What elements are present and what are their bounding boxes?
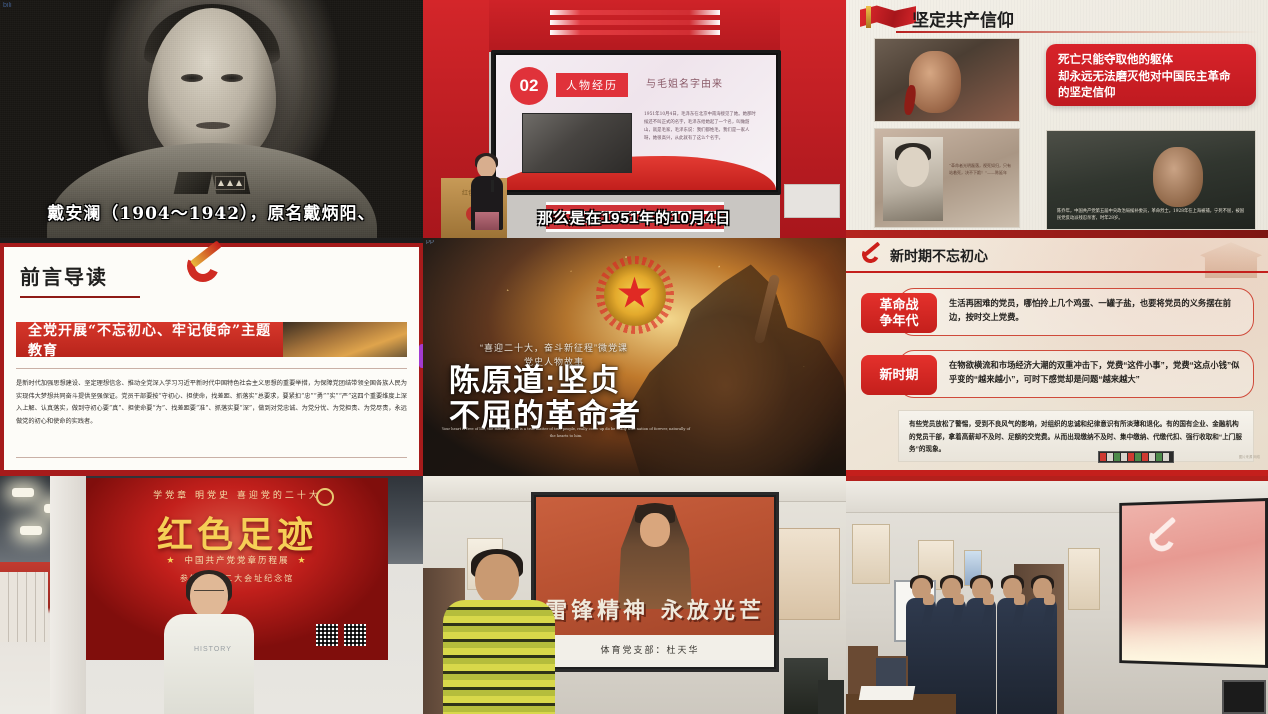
qr-codes — [316, 624, 366, 646]
banner-ribbon-text: 中国共产党党章历程展 — [184, 554, 289, 566]
panel-oath[interactable] — [846, 476, 1268, 714]
watermark: PP — [426, 240, 434, 246]
hero-title: 陈原道:坚贞 不屈的革命者 — [449, 364, 689, 433]
hero-english-subtext: Your heart is free of life, the mind of … — [441, 426, 691, 440]
organization-seal-icon — [316, 488, 334, 506]
screen-glow — [1122, 617, 1265, 665]
header-rule — [896, 31, 1260, 33]
star-icon: ★ — [298, 555, 308, 566]
panel-hero[interactable]: “喜迎二十大，奋斗新征程”微党课 党史人物故事 陈原道:坚贞 不屈的革命者 Yo… — [423, 238, 846, 476]
row-text: 在物欲横流和市场经济大潮的双重冲击下，党费“这件小事”，党费“这点小钱”似乎变的… — [949, 358, 1243, 386]
watermark: bili — [3, 2, 12, 9]
photo-face — [909, 51, 961, 113]
photo-wounded-man — [874, 38, 1020, 122]
hero-kicker-line1: “喜迎二十大，奋斗新征程”微党课 — [439, 342, 669, 356]
photo-portrait-inset — [883, 137, 943, 221]
row-text: 生活再困难的党员，哪怕拎上几个鸡蛋、一罐子盐，也要将党员的义务摆在前边，按时交上… — [949, 296, 1243, 324]
video-caption: 戴安澜（1904～1942），原名戴炳阳、 — [0, 199, 423, 224]
divider-bottom — [16, 457, 407, 458]
presenter-head — [477, 156, 496, 178]
panel-lecture-hall[interactable]: 02 人物经历 与毛姐名字由来 1951年10月4日，毛泽东在北京中南海接见了她… — [423, 0, 846, 238]
projection-screen: 雷锋精神 永放光芒 体育党支部：杜天华 — [531, 492, 779, 672]
monitor — [1222, 680, 1266, 714]
party-emblem-icon — [179, 246, 235, 288]
screen-slide: 02 人物经历 与毛姐名字由来 1951年10月4日，毛泽东在北京中南海接见了她… — [496, 55, 776, 190]
room-column — [50, 476, 86, 714]
army-star-emblem-icon — [604, 264, 666, 326]
person-body — [164, 614, 254, 714]
torch-icon — [866, 6, 871, 28]
note-box: 有些党员放松了警惕，受到不良风气的影响，对组织的忠诚和纪律意识有所淡薄和退化。有… — [898, 410, 1254, 462]
slide-section-subtag: 与毛姐名字由来 — [646, 75, 723, 90]
person-head — [475, 554, 519, 604]
panel-classroom[interactable]: 雷锋精神 永放光芒 体育党支部：杜天华 — [423, 476, 846, 714]
slide-body-text: 是新时代加强思想建设、坚定理想信念、推动全党深入学习习近平新时代中国特色社会主义… — [16, 378, 407, 429]
slide-footer: 体育党支部：杜天华 — [536, 635, 774, 667]
ceiling-light — [20, 526, 42, 535]
star-icon: ★ — [166, 555, 176, 566]
slide-body-text: 1951年10月4日，毛泽东在北京中南海接见了她。她那时候还不叫正式的名字，毛泽… — [644, 111, 756, 144]
led-screen: 02 人物经历 与毛姐名字由来 1951年10月4日，毛泽东在北京中南海接见了她… — [491, 50, 781, 195]
photo-historic-portrait: “革命者光明磊落，视死如归，只有站着死，决不下跪！”——陈延年 — [874, 128, 1020, 228]
panel-faith[interactable]: 坚定共产信仰 “革命者光明磊落，视死如归，只有站着死，决不下跪！”——陈延年 死… — [846, 0, 1268, 238]
content-row: 革命战 争年代 生活再困难的党员，哪怕拎上几个鸡蛋、一罐子盐，也要将党员的义务摆… — [898, 288, 1254, 336]
oath-takers — [906, 572, 1056, 714]
person — [966, 578, 995, 714]
content-row: 新时期 在物欲横流和市场经济大潮的双重冲击下，党费“这件小事”，党费“这点小钱”… — [898, 350, 1254, 398]
media-toolbar[interactable] — [1098, 451, 1174, 463]
wall-poster — [778, 528, 840, 620]
desktop-computer — [818, 680, 844, 714]
photo-face — [1153, 147, 1203, 207]
divider-top — [16, 368, 407, 369]
video-subtitle: 那么是在1951年的10月4日 — [423, 207, 846, 228]
panel-exhibition[interactable]: 学党章 明党史 喜迎党的二十大 红色足迹 ★ 中国共产党党章历程展 ★ 参学 中… — [0, 476, 423, 714]
quote-text: 死亡只能夺取他的躯体 却永远无法磨灭他对中国民主革命 的坚定信仰 — [1058, 52, 1244, 102]
slide-footer-bar — [846, 230, 1268, 238]
papers-on-table — [859, 686, 915, 700]
person — [997, 578, 1026, 714]
photo-caption-text: 陈乔年，中国共产党第五届中央政治局候补委员，革命烈士。1928年在上海被捕，宁死… — [1057, 208, 1245, 223]
thumbnail-grid: bili 戴安澜（1904～1942），原名戴炳阳、 02 人物经历 与毛姐名字… — [0, 0, 1268, 714]
microphone-icon — [491, 180, 494, 192]
window-top-bar — [0, 238, 423, 243]
party-emblem-icon — [1147, 521, 1183, 556]
slide-title: 坚定共产信仰 — [912, 6, 1014, 31]
slide-title: 新时期不忘初心 — [890, 246, 988, 266]
slide-header: 坚定共产信仰 — [846, 0, 1268, 34]
panel-new-era[interactable]: 新时期不忘初心 革命战 争年代 生活再困难的党员，哪怕拎上几个鸡蛋、一罐子盐，也… — [846, 238, 1268, 476]
wall-stripe-decor — [550, 10, 720, 35]
row-label: 新时期 — [861, 355, 937, 395]
great-wall-photo — [283, 322, 407, 357]
person-body — [443, 600, 555, 714]
photo-blood-detail — [903, 84, 917, 115]
speaker-person: HISTORY — [160, 574, 258, 714]
tshirt-text: HISTORY — [194, 646, 232, 653]
panel-portrait[interactable]: bili 戴安澜（1904～1942），原名戴炳阳、 — [0, 0, 423, 238]
qr-code-icon — [316, 624, 338, 646]
projection-screen — [1119, 498, 1268, 668]
image-credit: 图片来源 网络 — [1239, 455, 1260, 460]
banner-title: 红色足迹 — [86, 506, 388, 558]
ceiling-light — [12, 488, 34, 497]
exhibit-panels — [0, 572, 48, 642]
slide-section-number: 02 — [510, 67, 548, 105]
photo-smiling-man: 陈乔年，中国共产党第五届中央政治局候补委员，革命烈士。1928年在上海被捕，宁死… — [1046, 130, 1256, 230]
slide-historic-photo — [522, 113, 632, 173]
quote-callout-box: 死亡只能夺取他的躯体 却永远无法磨灭他对中国民主革命 的坚定信仰 — [1046, 44, 1256, 106]
glasses-icon — [194, 590, 224, 597]
hero-title-line1: 陈原道:坚贞 — [449, 364, 689, 399]
wall-poster — [852, 524, 890, 584]
header-rule — [846, 271, 1268, 273]
theme-banner-text: 全党开展“不忘初心、牢记使命”主题教育 — [16, 322, 283, 357]
presenter-name: 体育党支部：杜天华 — [536, 643, 764, 656]
projected-slide: 雷锋精神 永放光芒 体育党支部：杜天华 — [536, 497, 774, 667]
party-emblem-icon — [860, 244, 884, 266]
row-label: 革命战 争年代 — [861, 293, 937, 333]
slide-section-tag: 人物经历 — [556, 73, 628, 97]
speaker-person — [443, 554, 555, 714]
title-underline — [20, 296, 140, 298]
panel-preface[interactable]: 前言导读 全党开展“不忘初心、牢记使命”主题教育 是新时代加强思想建设、坚定理想… — [0, 238, 423, 476]
qr-code-icon — [344, 624, 366, 646]
banner-ribbon: ★ 中国共产党党章历程展 ★ — [166, 554, 307, 566]
person — [1027, 578, 1056, 714]
theme-banner: 全党开展“不忘初心、牢记使命”主题教育 — [16, 322, 407, 357]
wall-poster — [1068, 548, 1100, 610]
soldier-face — [640, 513, 670, 547]
portrait-face — [897, 147, 929, 187]
photo-quote-text: “革命者光明磊落，视死如归，只有站着死，决不下跪！”——陈延年 — [949, 163, 1015, 177]
slide-slogan: 雷锋精神 永放光芒 — [536, 593, 774, 625]
banner-subtitle: 学党章 明党史 喜迎党的二十大 — [86, 488, 388, 501]
